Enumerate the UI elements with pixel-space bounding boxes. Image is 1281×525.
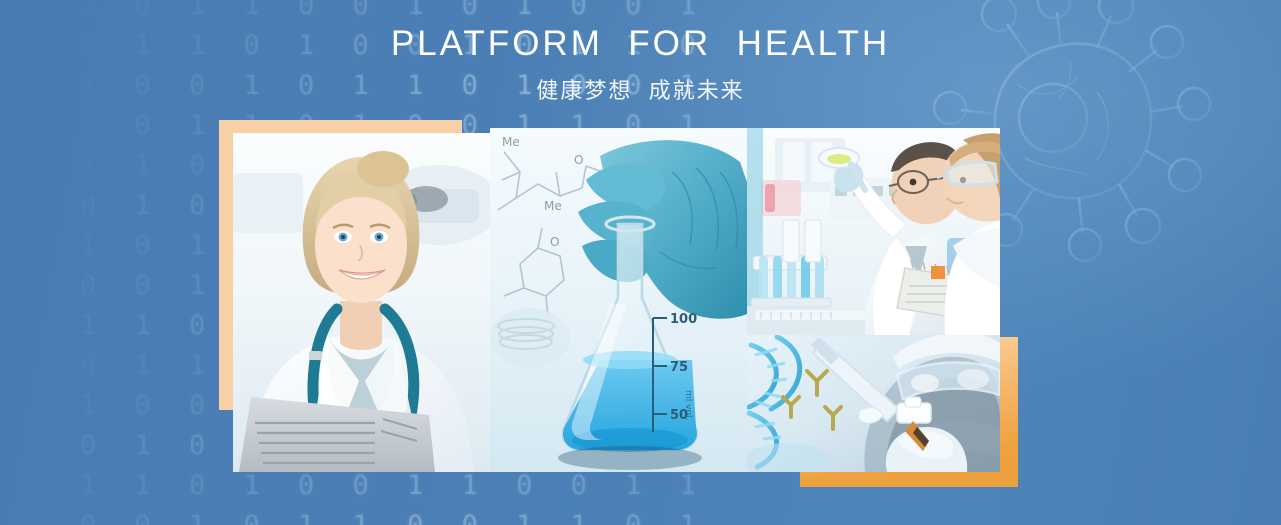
- flask-mark-75: 75: [670, 360, 688, 375]
- svg-text:Me: Me: [502, 135, 520, 149]
- flask-mark-100: 100: [670, 312, 697, 327]
- photo-flask: Me Me O OH O: [490, 128, 747, 472]
- svg-text:O: O: [574, 153, 583, 167]
- health-platform-banner: 1 0 1 1 0 0 1 0 1 0 0 1 1 00 1 1 0 1 0 0…: [0, 0, 1281, 525]
- svg-text:Me: Me: [544, 199, 562, 213]
- headline-block: PLATFORM FOR HEALTH 健康梦想 成就未来: [0, 24, 1281, 105]
- page-title: PLATFORM FOR HEALTH: [0, 24, 1281, 64]
- page-subtitle: 健康梦想 成就未来: [0, 73, 1281, 105]
- svg-text:ml vol.: ml vol.: [683, 390, 693, 420]
- photo-doctor: Smiling blonde female doctor with stetho…: [233, 133, 490, 472]
- photo-researcher: Researcher in goggles handling a pipette…: [747, 335, 1000, 472]
- svg-text:O: O: [550, 235, 559, 249]
- photo-scientists: Two lab scientists in white coats examin…: [747, 128, 1000, 335]
